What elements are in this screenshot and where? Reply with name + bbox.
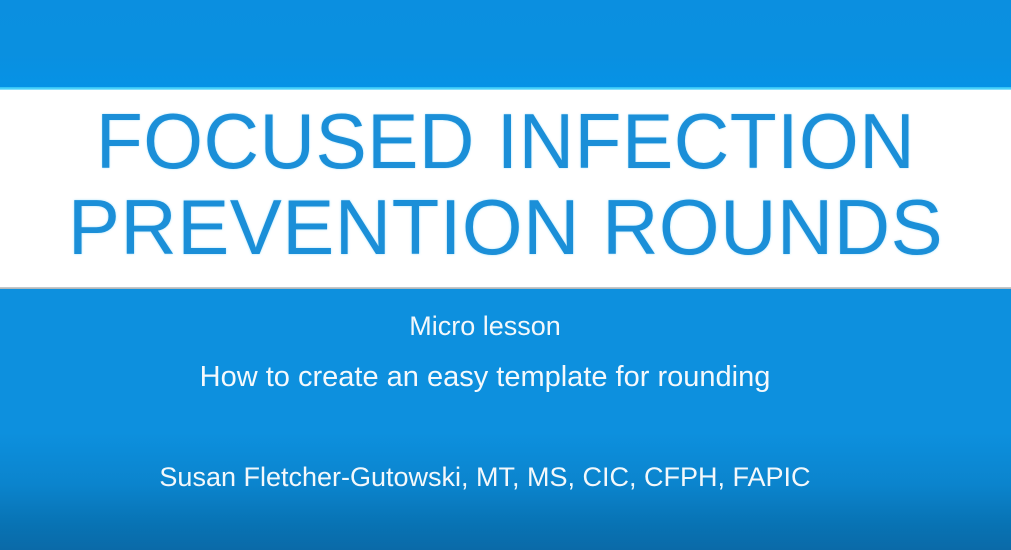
lesson-label: Micro lesson xyxy=(0,310,970,342)
author-credentials: Susan Fletcher-Gutowski, MT, MS, CIC, CF… xyxy=(0,461,970,493)
bottom-blue-band: Micro lesson How to create an easy templ… xyxy=(0,289,1011,550)
top-blue-band xyxy=(0,0,1011,88)
slide-title: FOCUSED INFECTION PREVENTION ROUNDS xyxy=(0,98,1011,270)
lesson-description: How to create an easy template for round… xyxy=(0,360,970,394)
title-line-1: FOCUSED INFECTION xyxy=(8,98,1004,184)
presentation-slide: FOCUSED INFECTION PREVENTION ROUNDS Micr… xyxy=(0,0,1011,550)
title-line-2: PREVENTION ROUNDS xyxy=(0,184,1011,270)
